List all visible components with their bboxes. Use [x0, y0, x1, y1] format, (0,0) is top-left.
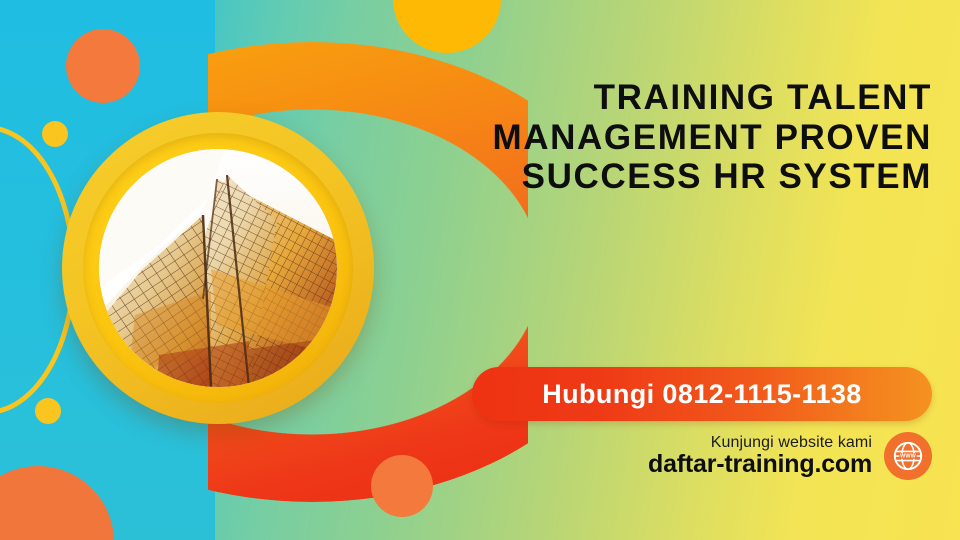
arc-dot-top — [42, 121, 68, 147]
contact-phone-button[interactable]: Hubungi 0812-1115-1138 — [472, 367, 932, 421]
decor-circle-orange-bottom-middle — [371, 455, 433, 517]
website-text-group: Kunjungi website kami daftar-training.co… — [648, 434, 872, 477]
decor-circle-orange-top-left — [66, 29, 140, 103]
contact-phone-label: Hubungi 0812-1115-1138 — [542, 379, 861, 410]
glass-skyscraper-photo — [99, 149, 337, 387]
svg-text:WWW: WWW — [900, 454, 917, 460]
website-url-label[interactable]: daftar-training.com — [648, 451, 872, 478]
website-footer: Kunjungi website kami daftar-training.co… — [462, 432, 932, 480]
promo-banner: TRAINING TALENT MANAGEMENT PROVEN SUCCES… — [0, 0, 960, 540]
arc-dot-bottom — [35, 398, 61, 424]
page-title: TRAINING TALENT MANAGEMENT PROVEN SUCCES… — [462, 78, 932, 197]
banner-content: TRAINING TALENT MANAGEMENT PROVEN SUCCES… — [462, 0, 932, 540]
globe-www-icon[interactable]: WWW — [884, 432, 932, 480]
